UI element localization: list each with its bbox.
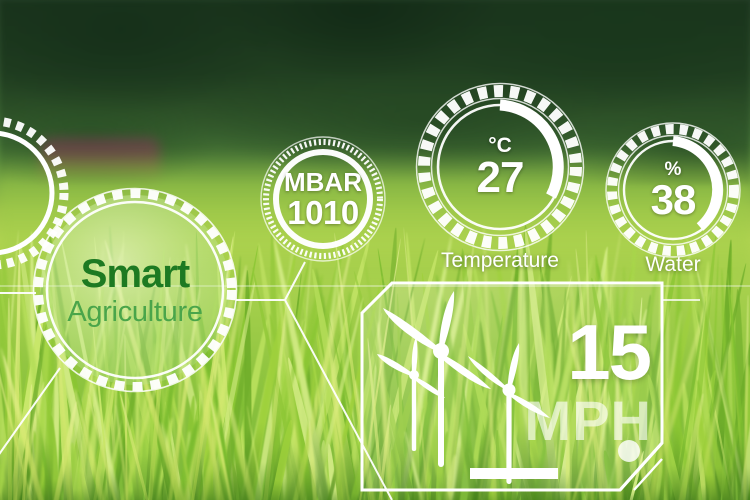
gauge-pressure-readout: MBAR 1010 (273, 149, 373, 249)
gauge-water[interactable]: % 38 Water (618, 135, 728, 245)
gauge-temperature-readout: °C 27 (430, 97, 570, 237)
gauge-pressure[interactable]: MBAR 1010 (273, 149, 373, 249)
gauge-temperature-label: Temperature (441, 249, 559, 273)
wind-panel-bottom-bar (470, 468, 558, 479)
smart-agriculture-infographic: Smart Agriculture MBAR 1010 °C 27 Temper… (0, 0, 750, 500)
gauge-pressure-value: 1010 (287, 196, 358, 229)
brand-subtitle: Agriculture (67, 298, 202, 327)
wind-speed-unit: MPH (525, 393, 652, 449)
gauge-temperature-value: 27 (477, 156, 524, 200)
gauge-water-value: 38 (651, 179, 696, 221)
gauge-temperature[interactable]: °C 27 Temperature (430, 97, 570, 237)
brand-badge[interactable]: Smart Agriculture (35, 190, 235, 390)
wind-speed-value: 15 (567, 313, 650, 391)
brand-text-block: Smart Agriculture (35, 190, 235, 390)
gauge-water-readout: % 38 (618, 135, 728, 245)
gauge-water-label: Water (645, 253, 700, 277)
wind-panel[interactable]: 15 MPH (362, 283, 662, 490)
gauge-pressure-unit: MBAR (284, 169, 362, 195)
brand-title: Smart (81, 254, 189, 294)
